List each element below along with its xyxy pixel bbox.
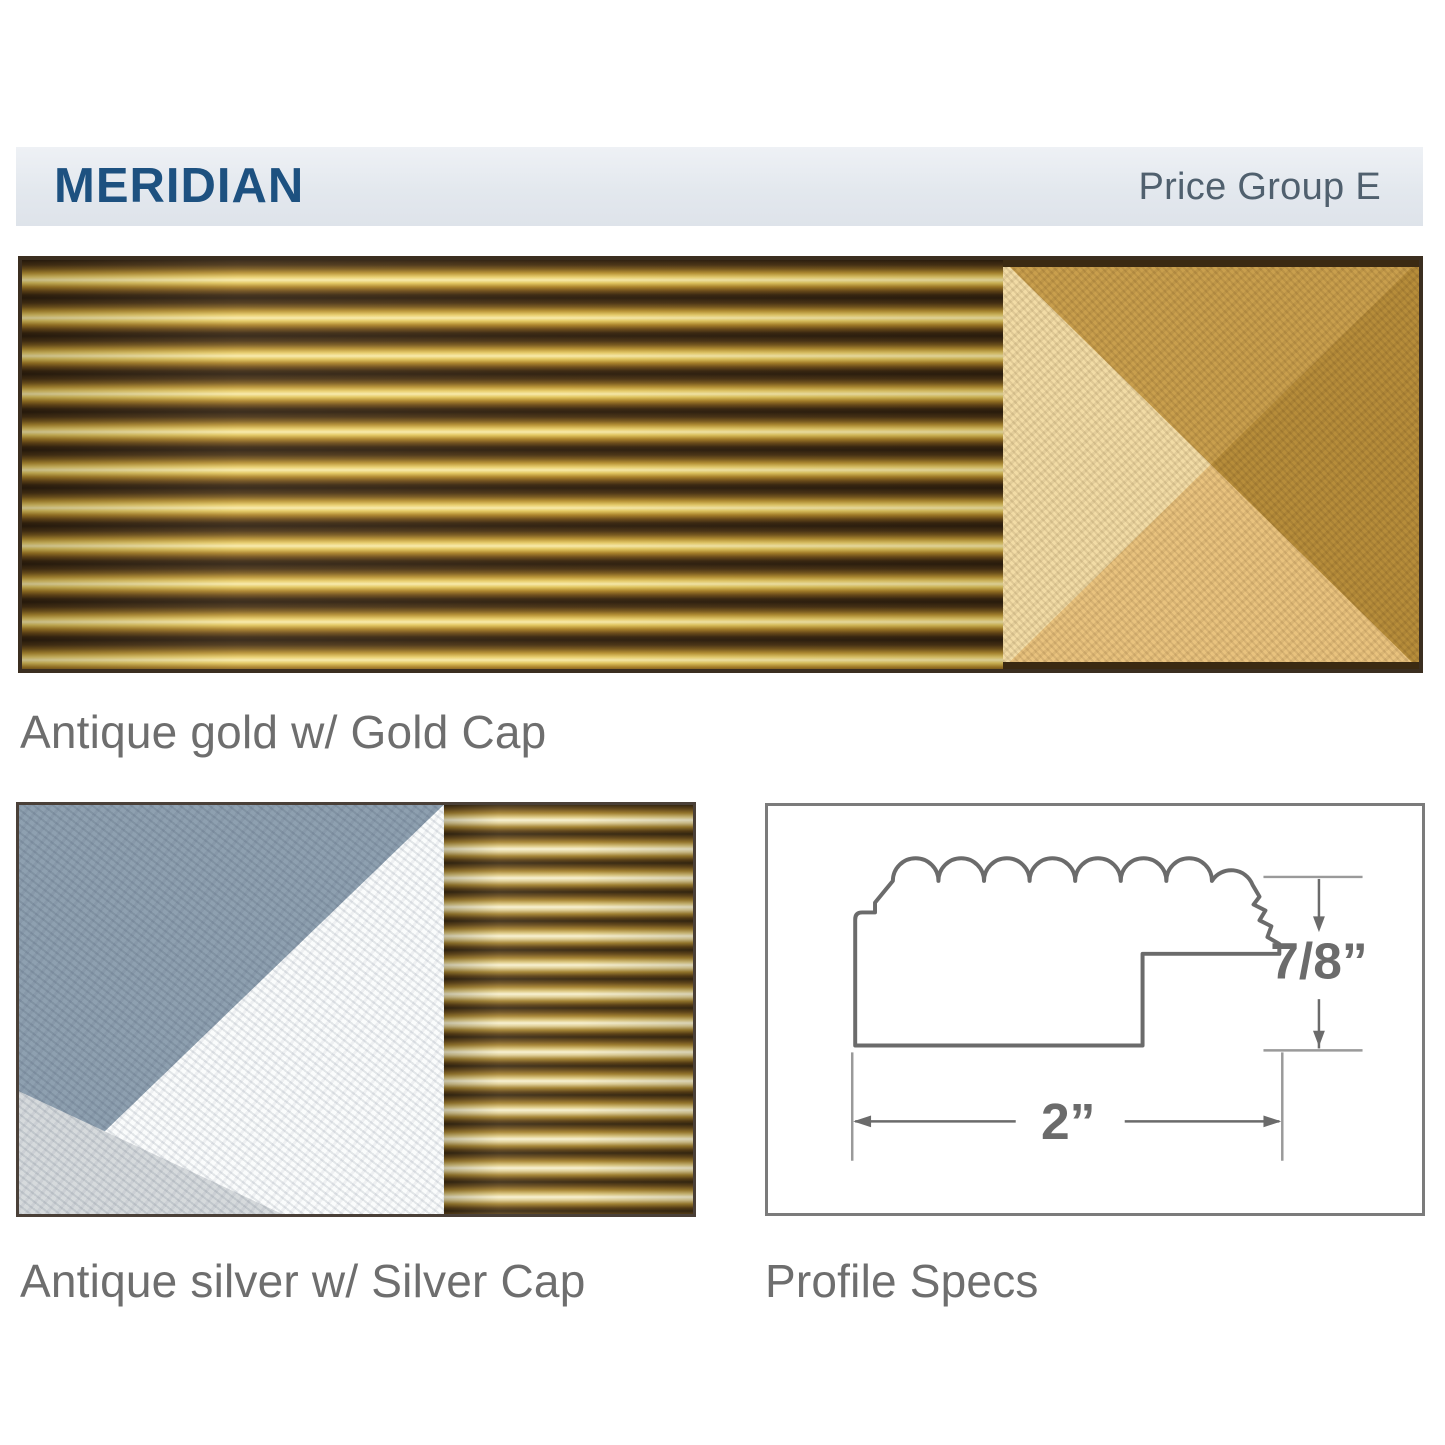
page-title: MERIDIAN	[54, 162, 304, 211]
profile-cross-section-diagram: 7/8” 2”	[768, 806, 1422, 1213]
width-arrow-left	[853, 1115, 871, 1127]
silver-leaf-grain-overlay	[19, 805, 444, 1214]
gold-sheen-overlay	[22, 260, 1003, 669]
silver-fluting-texture	[444, 805, 693, 1214]
price-group-label: Price Group E	[1138, 168, 1381, 206]
cap-leaf-grain-overlay	[1003, 260, 1419, 669]
cap-edge-bottom	[1003, 662, 1419, 669]
product-header-bar: MERIDIAN Price Group E	[16, 147, 1423, 226]
caption-profile-specs: Profile Specs	[765, 1258, 1039, 1304]
height-arrow-upper	[1313, 916, 1325, 932]
gold-fluting-texture	[22, 260, 1003, 669]
silver-sheen-overlay	[444, 805, 693, 1214]
silver-corner-cap	[19, 805, 444, 1214]
sample-image-gold	[18, 256, 1423, 673]
caption-silver-sample: Antique silver w/ Silver Cap	[20, 1258, 585, 1304]
width-arrow-right	[1263, 1115, 1281, 1127]
cap-edge-top	[1003, 260, 1419, 267]
width-dimension-label: 2”	[1041, 1092, 1095, 1150]
caption-gold-sample: Antique gold w/ Gold Cap	[20, 709, 546, 755]
sample-image-silver	[16, 802, 696, 1217]
gold-corner-cap	[1003, 260, 1419, 669]
height-arrow-lower	[1313, 1031, 1325, 1047]
height-dimension-label: 7/8”	[1270, 932, 1367, 990]
profile-specs-panel: 7/8” 2”	[765, 803, 1425, 1216]
moulding-profile-outline	[855, 858, 1279, 1045]
